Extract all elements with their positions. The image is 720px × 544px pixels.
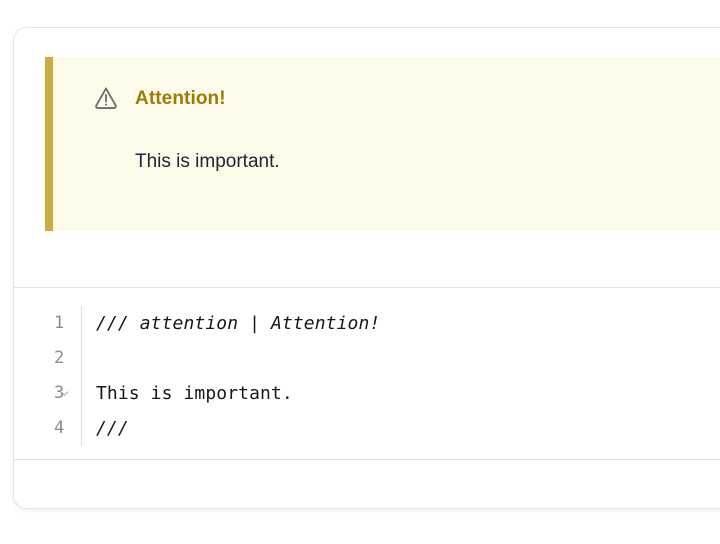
- line-number: 1: [54, 313, 64, 333]
- warning-triangle-icon: [93, 85, 119, 111]
- admonition-attention: Attention! This is important.: [45, 57, 720, 231]
- gutter-line-1[interactable]: 1: [14, 306, 81, 341]
- gutter-line-4[interactable]: 4: [14, 411, 81, 446]
- gutter-line-3[interactable]: 3: [14, 376, 81, 411]
- line-number-gutter[interactable]: 1 2 3 4: [14, 306, 82, 446]
- admonition-body-text: This is important.: [135, 150, 280, 175]
- card-footer: [14, 460, 720, 508]
- chevron-down-icon[interactable]: [59, 376, 70, 411]
- rendered-preview-pane: Attention! This is important.: [14, 28, 720, 288]
- code-line-3[interactable]: This is important.: [96, 376, 720, 411]
- example-card: Attention! This is important. 1 2 3: [13, 27, 720, 509]
- line-number: 4: [54, 418, 64, 438]
- code-line-1[interactable]: /// attention | Attention!: [96, 306, 720, 341]
- admonition-title-row: Attention!: [93, 85, 226, 111]
- gutter-line-2[interactable]: 2: [14, 341, 81, 376]
- code-line-4[interactable]: ///: [96, 411, 720, 446]
- screenshot-viewport: Attention! This is important. 1 2 3: [0, 0, 720, 544]
- code-content[interactable]: /// attention | Attention! This is impor…: [82, 306, 720, 446]
- code-scroller[interactable]: 1 2 3 4: [14, 306, 720, 446]
- source-code-pane[interactable]: 1 2 3 4: [14, 288, 720, 460]
- code-line-2[interactable]: [96, 341, 720, 376]
- line-number: 2: [54, 348, 64, 368]
- admonition-title: Attention!: [135, 89, 226, 108]
